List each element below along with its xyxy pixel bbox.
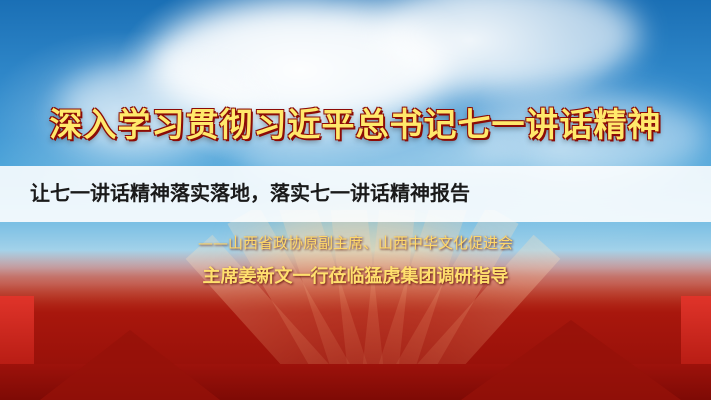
image-headline: 深入学习贯彻习近平总书记七一讲话精神 (0, 98, 711, 146)
mountain-right (461, 320, 681, 400)
poster-image: 深入学习贯彻习近平总书记七一讲话精神 让七一讲话精神落实落地，落实七一讲话精神报… (0, 0, 711, 400)
mountain-left (40, 330, 220, 400)
subtitle-line-1: ——山西省政协原副主席、山西中华文化促进会 (0, 232, 711, 253)
overlay-title: 让七一讲话精神落实落地，落实七一讲话精神报告 (0, 166, 711, 222)
subtitle-line-2: 主席姜新文一行莅临猛虎集团调研指导 (0, 262, 711, 288)
